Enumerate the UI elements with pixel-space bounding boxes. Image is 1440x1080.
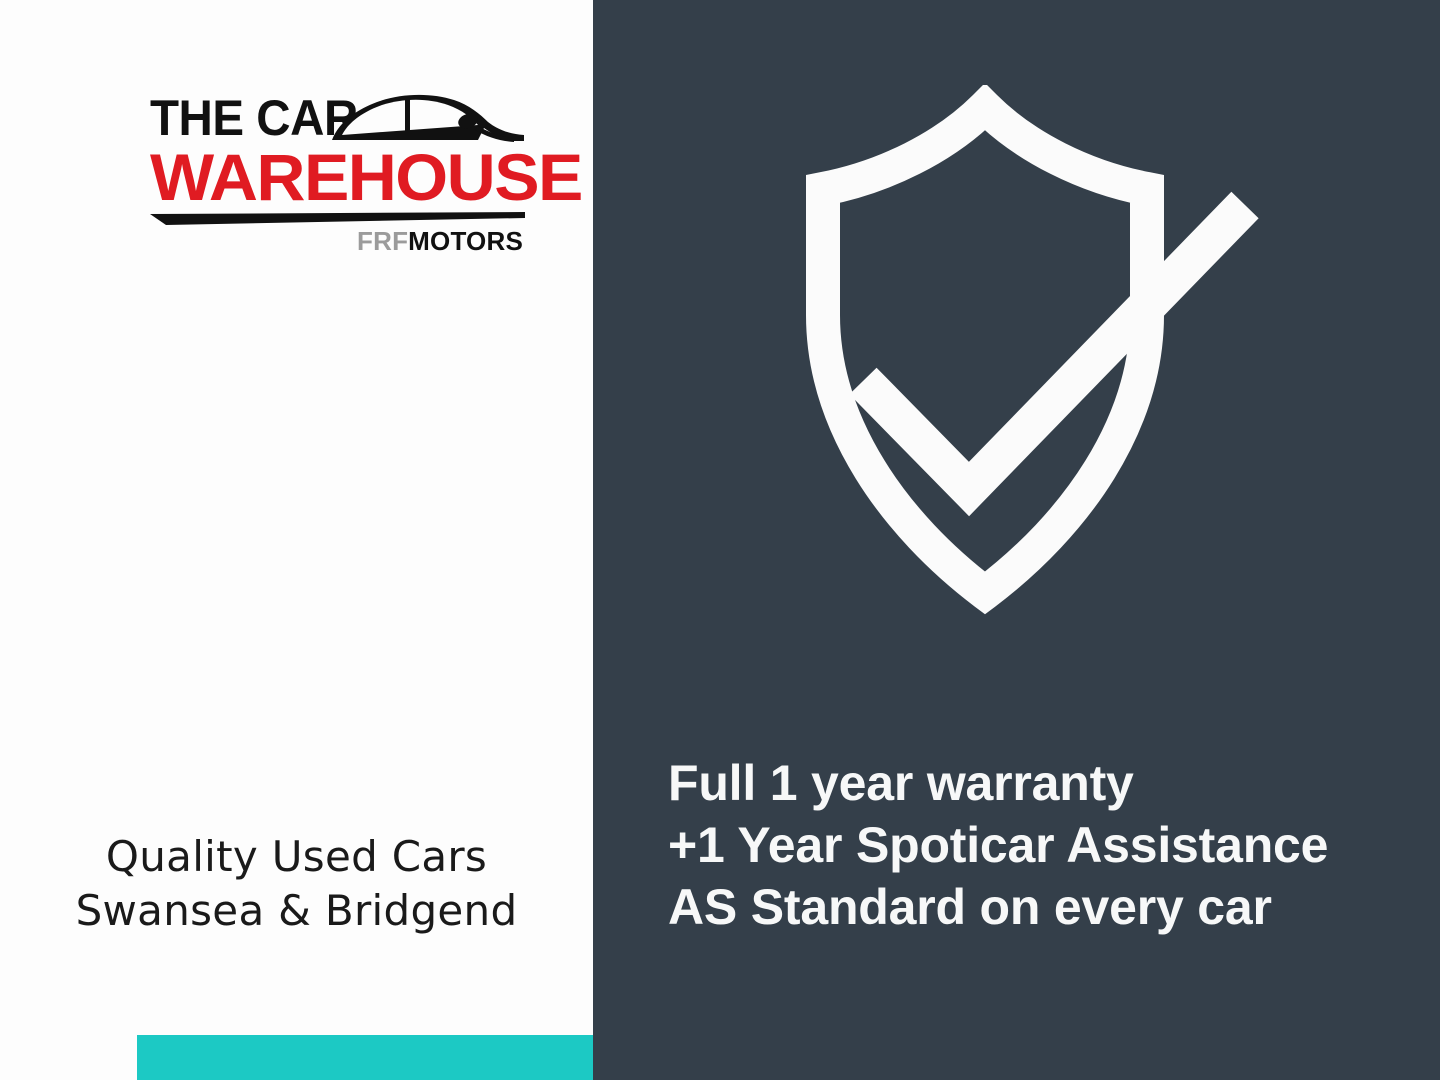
logo-warehouse-text: WAREHOUSE [150,146,536,209]
headline-line-1: Full 1 year warranty [668,752,1408,814]
company-logo: THE CAR WAREHOUSE FRFMOTORS [150,88,525,254]
tagline-line-2: Swansea & Bridgend [0,884,593,938]
logo-divider-bar [150,212,525,226]
promotional-slide: THE CAR WAREHOUSE FRFMOTORS Quality U [0,0,1440,1080]
teal-accent-horizontal-bar [137,1035,616,1080]
headline-line-2: +1 Year Spoticar Assistance [668,814,1408,876]
logo-motors-text: MOTORS [408,226,523,256]
logo-frf-motors: FRFMOTORS [150,228,525,254]
tagline-block: Quality Used Cars Swansea & Bridgend [0,830,593,938]
logo-the-car-text: THE CAR [150,93,358,143]
tagline-line-1: Quality Used Cars [0,830,593,884]
headline-line-3: AS Standard on every car [668,876,1408,938]
shield-check-icon [745,85,1290,615]
logo-frf-text: FRF [357,226,408,256]
headline-block: Full 1 year warranty +1 Year Spoticar As… [668,752,1408,938]
